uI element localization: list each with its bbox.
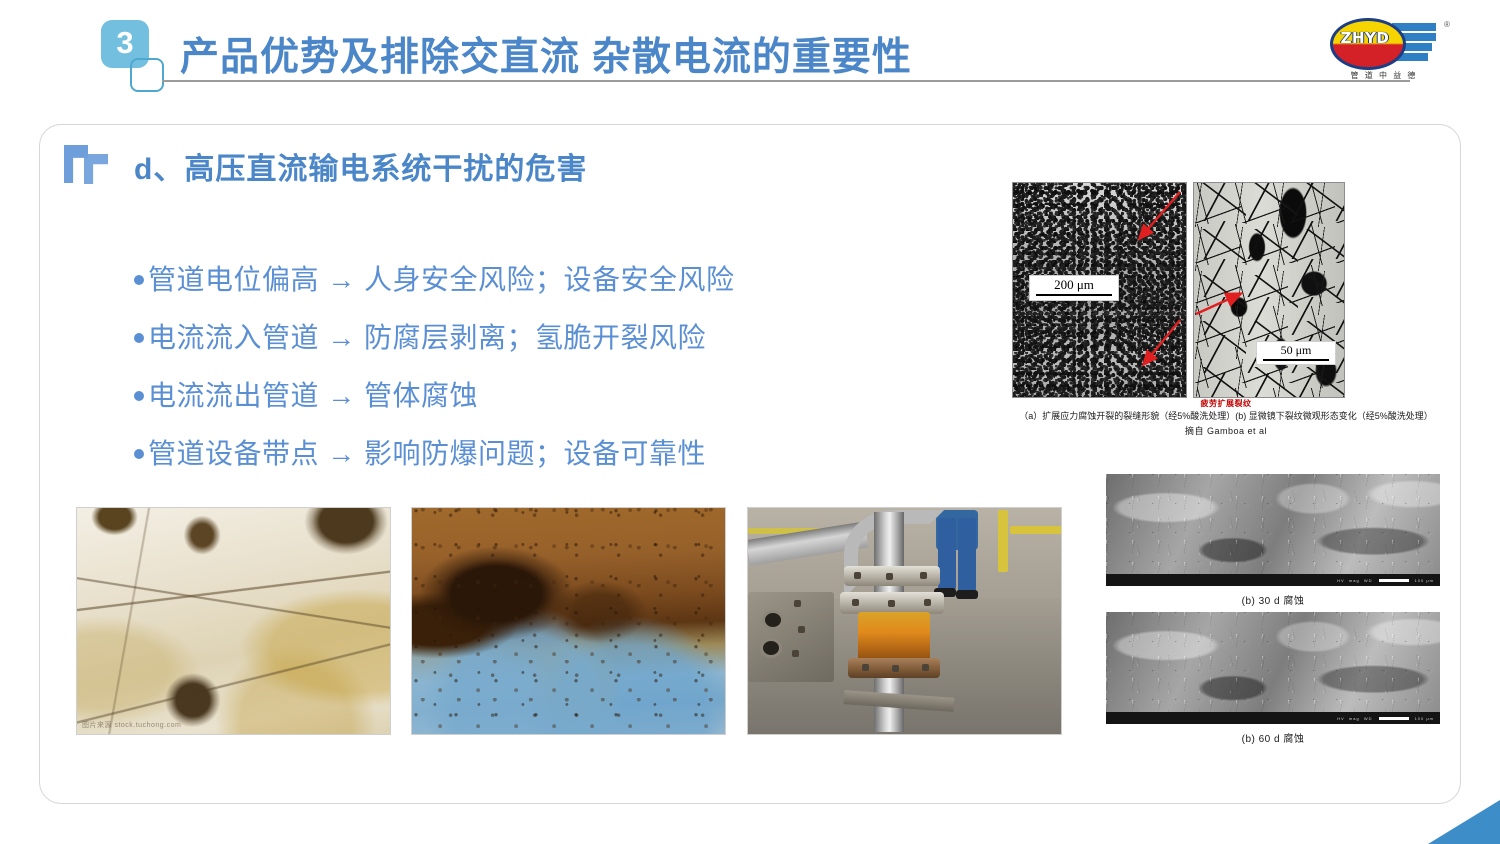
bullet-text: 管道电位偏高 → 人身安全风险；设备安全风险	[148, 258, 735, 298]
flange-bolt-9	[922, 664, 929, 671]
scale-bar-200um: 200 μm	[1029, 275, 1119, 301]
photo-pipeline-background	[748, 508, 1061, 734]
scale-bar-200um-label: 200 μm	[1054, 277, 1094, 292]
slab-bolt-1	[794, 600, 801, 607]
sem-figure-30d: HV mag WD 100 µm (b) 30 d 腐蚀	[1106, 474, 1440, 607]
photo-cracked-coating-texture	[77, 508, 390, 734]
bullet-list: 管道电位偏高 → 人身安全风险；设备安全风险 电流流入管道 → 防腐层剥离；氢脆…	[134, 258, 914, 490]
sem-info-bar-text: HV mag WD	[1337, 716, 1372, 721]
logo-wordmark: ZHYD	[1332, 29, 1398, 47]
sem-figure-60d: HV mag WD 100 µm (b) 60 d 腐蚀	[1106, 612, 1440, 745]
bullet-dot-icon	[134, 449, 144, 459]
micrograph-image-b: 50 μm	[1193, 182, 1345, 398]
bullet-dot-icon	[134, 391, 144, 401]
bullet-item: 电流流入管道 → 防腐层剥离；氢脆开裂风险	[134, 316, 914, 356]
sem-30d-texture	[1106, 474, 1440, 586]
pipe-flange-upper	[844, 566, 940, 586]
photo-cracked-coating: 图片来源 stock.tuchong.com	[76, 507, 391, 735]
bullet-text: 电流流入管道 → 防腐层剥离；氢脆开裂风险	[148, 316, 706, 356]
photo-watermark: 图片来源 stock.tuchong.com	[82, 720, 181, 730]
figure-source-citation: 摘自 Gamboa et al	[1008, 424, 1444, 437]
section-number-badge: 3	[101, 20, 171, 92]
flange-bolt-3	[920, 572, 927, 579]
sem-caption-60d: (b) 60 d 腐蚀	[1106, 730, 1440, 745]
bullet-text: 管道设备带点 → 影响防爆问题；设备可靠性	[148, 432, 706, 472]
bullet-dot-icon	[134, 275, 144, 285]
micrograph-image-row: 200 μm 50 μm	[1008, 182, 1444, 398]
page-title: 产品优势及排除交直流 杂散电流的重要性	[180, 26, 912, 82]
bullet-dot-icon	[134, 333, 144, 343]
sem-scale-value: 100 µm	[1415, 716, 1434, 721]
sem-info-bar: HV mag WD 100 µm	[1106, 574, 1440, 586]
slab-hole-1	[762, 610, 784, 630]
sem-caption-30d: (b) 30 d 腐蚀	[1106, 592, 1440, 607]
sem-scale-tick-icon	[1379, 579, 1409, 582]
bullet-item: 管道设备带点 → 影响防爆问题；设备可靠性	[134, 432, 914, 472]
slab-hole-2	[760, 638, 782, 658]
flange-bolt-6	[924, 599, 931, 606]
scale-bar-50um-label: 50 μm	[1281, 343, 1312, 357]
logo-mark: ZHYD 管 道 中 益 德	[1328, 16, 1440, 68]
insulating-joint	[858, 612, 930, 662]
double-flag-icon	[64, 145, 110, 185]
figure-red-annotation: 疲劳扩展裂纹	[1008, 398, 1444, 409]
micrograph-image-a: 200 μm	[1012, 182, 1187, 398]
sem-scale-tick-icon	[1379, 717, 1409, 720]
flange-bolt-1	[854, 572, 861, 579]
sem-image-30d: HV mag WD 100 µm	[1106, 474, 1440, 586]
worker-leg-right	[958, 518, 976, 592]
figure-caption: （a）扩展应力腐蚀开裂的裂缝形貌（经5%酸洗处理）(b) 显微镜下裂纹微观形态变…	[992, 410, 1460, 423]
flange-bolt-8	[892, 665, 899, 672]
scale-bar-rule	[1263, 359, 1329, 361]
registered-trademark-icon: ®	[1444, 20, 1450, 29]
slab-bolt-2	[798, 626, 805, 633]
corner-triangle-decoration	[1428, 800, 1500, 844]
flange-bolt-2	[886, 573, 893, 580]
sem-info-bar: HV mag WD 100 µm	[1106, 712, 1440, 724]
photo-rusted-steel-texture	[412, 508, 725, 734]
yellow-rail-vertical	[998, 510, 1008, 572]
micrograph-figure: 200 μm 50 μm 疲劳扩展裂纹 （a）扩展应力腐蚀开裂的裂缝形貌（经5%…	[1008, 182, 1444, 450]
flange-bolt-5	[888, 600, 895, 607]
pipe-flange-lower	[848, 658, 940, 678]
worker-shoe-right	[956, 590, 978, 599]
bullet-item: 管道电位偏高 → 人身安全风险；设备安全风险	[134, 258, 914, 298]
scale-bar-rule	[1036, 294, 1112, 296]
photo-rusted-steel	[411, 507, 726, 735]
bullet-text: 电流流出管道 → 管体腐蚀	[148, 374, 478, 414]
sem-info-bar-text: HV mag WD	[1337, 578, 1372, 583]
title-underline-divider	[162, 80, 1410, 82]
sem-image-60d: HV mag WD 100 µm	[1106, 612, 1440, 724]
flange-bolt-4	[852, 599, 859, 606]
flag-shape-back	[84, 154, 108, 184]
badge-outline-decoration	[130, 58, 164, 92]
scale-bar-50um: 50 μm	[1256, 341, 1336, 365]
flange-bolt-7	[862, 664, 869, 671]
equipment-slab	[748, 592, 834, 682]
slide-header: 3 产品优势及排除交直流 杂散电流的重要性 ZHYD 管 道 中 益 德 ®	[0, 0, 1500, 100]
sem-info-bar-content: HV mag WD 100 µm	[1284, 714, 1434, 722]
pipe-flange-mid	[840, 592, 944, 614]
yellow-rail-horizontal	[1010, 526, 1062, 534]
sem-info-bar-content: HV mag WD 100 µm	[1284, 576, 1434, 584]
section-heading: d、高压直流输电系统干扰的危害	[134, 144, 587, 188]
sem-scale-value: 100 µm	[1415, 578, 1434, 583]
bullet-item: 电流流出管道 → 管体腐蚀	[134, 374, 914, 414]
company-logo: ZHYD 管 道 中 益 德 ®	[1328, 12, 1478, 90]
slab-bolt-3	[792, 650, 799, 657]
sem-60d-texture	[1106, 612, 1440, 724]
logo-subtitle: 管 道 中 益 德	[1328, 70, 1440, 81]
photo-pipeline-joint	[747, 507, 1062, 735]
